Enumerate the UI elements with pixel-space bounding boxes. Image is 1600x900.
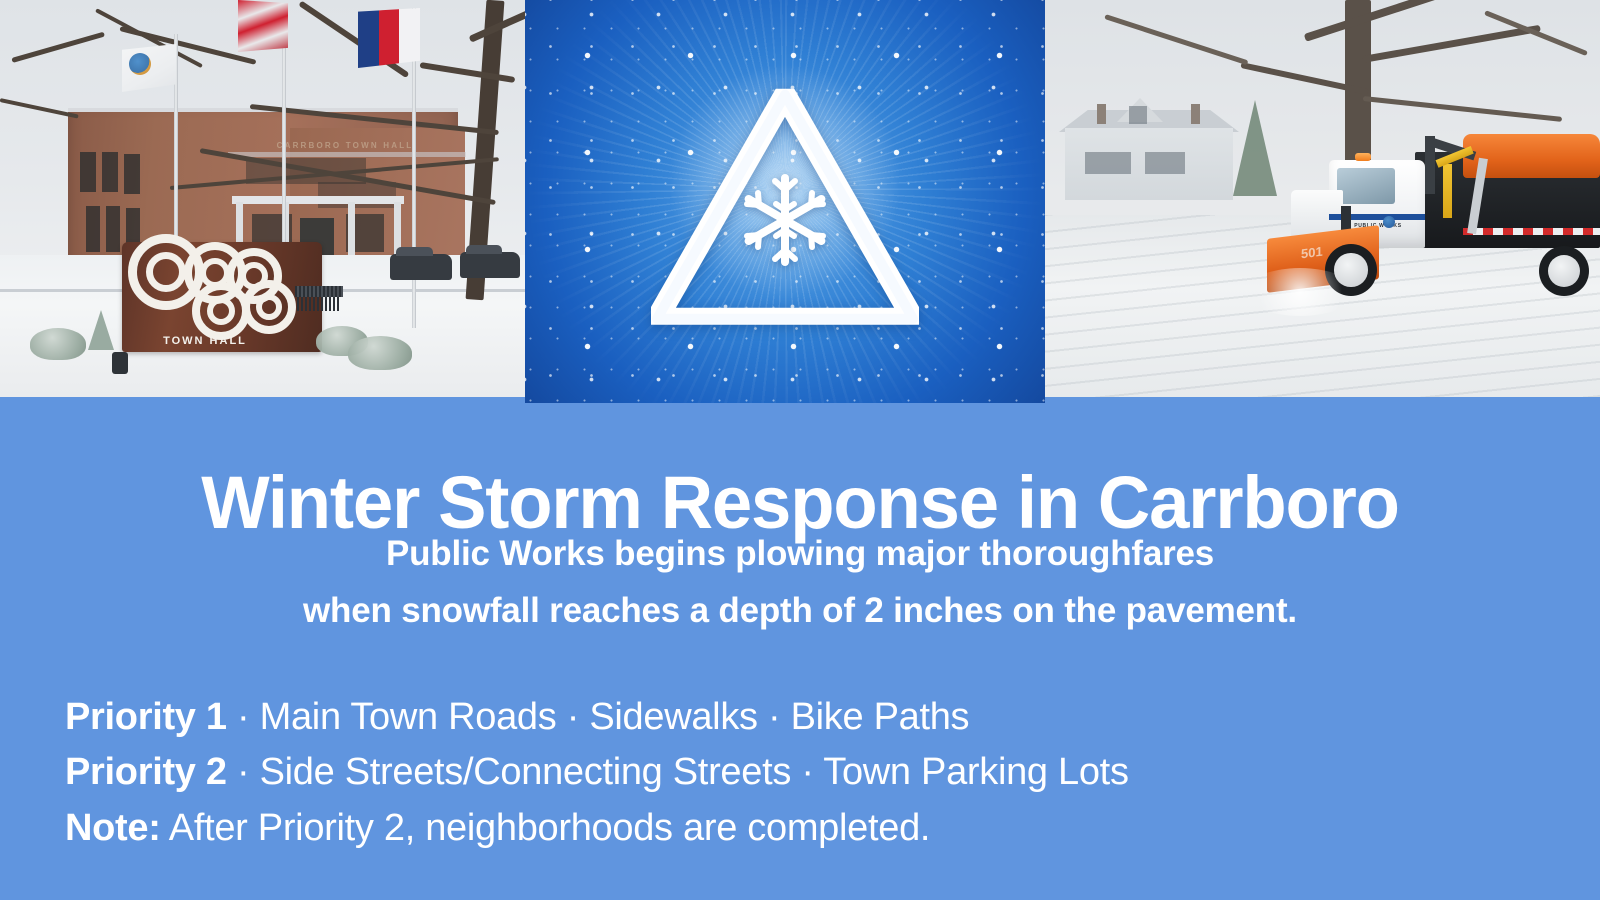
parked-car: [390, 254, 452, 280]
warning-beacon-icon: [1355, 153, 1371, 161]
chimney: [1191, 104, 1200, 124]
town-seal-icon: [129, 53, 151, 75]
plow-number: 501: [1301, 245, 1323, 261]
sign-label: TOWN HALL: [130, 336, 280, 347]
priority-2-line: Priority 2 · Side Streets/Connecting Str…: [65, 745, 1535, 800]
separator-icon: ·: [791, 751, 823, 793]
public-works-plow-truck: PUBLIC WORKS 501: [1267, 128, 1600, 313]
shrub: [30, 328, 86, 360]
priority-2-label: Priority 2: [65, 751, 227, 793]
priority-list: Priority 1 · Main Town Roads · Sidewalks…: [65, 690, 1535, 856]
note-line: Note: After Priority 2, neighborhoods ar…: [65, 801, 1535, 856]
window-band: [318, 182, 396, 208]
rear-wheel: [1539, 246, 1589, 296]
separator-icon: ·: [227, 696, 260, 738]
priority-1-item-3: Bike Paths: [791, 696, 970, 738]
park-bench: [295, 286, 343, 314]
window: [102, 152, 118, 192]
priority-1-item-1: Main Town Roads: [260, 696, 557, 738]
subtitle-line-1: Public Works begins plowing major thorou…: [0, 526, 1600, 583]
priority-1-label: Priority 1: [65, 696, 227, 738]
subtitle-line-2: when snowfall reaches a depth of 2 inche…: [0, 583, 1600, 640]
united-states-flag: [238, 0, 288, 52]
window: [106, 206, 120, 252]
note-text: After Priority 2, neighborhoods are comp…: [161, 807, 931, 849]
wordmark-ring: [207, 297, 235, 325]
roofline: [228, 152, 466, 157]
separator-icon: ·: [758, 696, 791, 738]
subtitle: Public Works begins plowing major thorou…: [0, 526, 1600, 639]
separator-icon: ·: [556, 696, 589, 738]
priority-1-item-2: Sidewalks: [589, 696, 757, 738]
winter-storm-response-poster: CARRBORO TOWN HALL: [0, 0, 1600, 900]
shrub: [348, 336, 412, 370]
window: [1145, 152, 1185, 174]
priority-2-item-2: Town Parking Lots: [823, 751, 1128, 793]
conifer-shrub: [88, 310, 114, 350]
ground-light-fixture: [112, 352, 128, 374]
priority-2-item-1: Side Streets/Connecting Streets: [260, 751, 791, 793]
window: [124, 154, 140, 194]
hydraulic-cylinder: [1443, 164, 1452, 218]
poster-text-content: Winter Storm Response in Carrboro Public…: [0, 403, 1600, 900]
carrboro-town-hall-sign: TOWN HALL: [122, 228, 322, 353]
north-carolina-flag: [358, 8, 420, 68]
snowflake-icon: [735, 170, 835, 270]
priority-1-line: Priority 1 · Main Town Roads · Sidewalks…: [65, 690, 1535, 745]
snow-spray: [1245, 268, 1355, 316]
town-flag: [122, 44, 176, 92]
note-label: Note:: [65, 807, 161, 849]
wordmark-ring: [256, 294, 282, 320]
window: [80, 152, 96, 192]
window: [86, 206, 100, 252]
reflective-stripe: [1463, 228, 1600, 235]
portico-roof: [232, 196, 404, 204]
window: [1085, 152, 1131, 174]
photo-snowflake-warning: [525, 0, 1045, 403]
separator-icon: ·: [227, 751, 260, 793]
wordmark-ring: [146, 252, 186, 292]
photo-snowplow-truck: PUBLIC WORKS 501: [1045, 0, 1600, 397]
town-seal-icon: [1383, 216, 1395, 228]
parked-car: [460, 252, 520, 278]
window: [1129, 106, 1147, 124]
chimney: [1097, 104, 1106, 124]
cab-window: [1337, 168, 1395, 204]
photo-strip: CARRBORO TOWN HALL: [0, 0, 1600, 403]
photo-carrboro-town-hall: CARRBORO TOWN HALL: [0, 0, 525, 397]
